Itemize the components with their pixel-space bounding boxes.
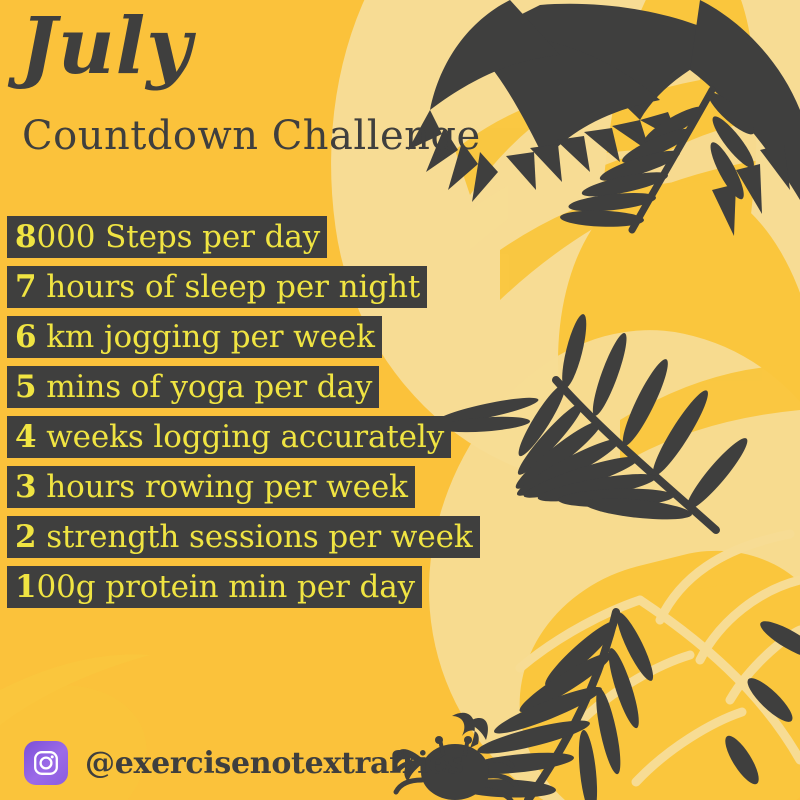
footer: @exercisenotextrafries xyxy=(24,741,464,785)
challenge-list: 8000 Steps per day7 hours of sleep per n… xyxy=(7,216,480,616)
palm-frond-leaflets-upper-icon xyxy=(560,87,759,228)
challenge-item-number: 5 xyxy=(15,369,36,405)
challenge-item-1: 8000 Steps per day xyxy=(7,216,327,258)
challenge-item-text: km jogging per week xyxy=(36,319,374,355)
challenge-item-6: 3 hours rowing per week xyxy=(7,466,415,508)
instagram-handle[interactable]: @exercisenotextrafries xyxy=(85,746,464,781)
challenge-item-number: 1 xyxy=(15,569,36,605)
palm-frond-dark-mid-right-icon xyxy=(435,312,753,523)
challenge-item-number: 8 xyxy=(15,219,36,255)
challenge-item-text: hours rowing per week xyxy=(36,469,407,505)
palm-frond-dark-bottom-right-icon xyxy=(456,609,659,800)
challenge-item-8: 100g protein min per day xyxy=(7,566,422,608)
palm-crown-light-icon xyxy=(470,40,760,250)
challenge-item-4: 5 mins of yoga per day xyxy=(7,366,379,408)
instagram-icon[interactable] xyxy=(24,741,68,785)
list-item: 6 km jogging per week xyxy=(7,316,480,366)
list-item: 5 mins of yoga per day xyxy=(7,366,480,416)
list-item: 4 weeks logging accurately xyxy=(7,416,480,466)
palm-frond-dark-bottom-right-stem-icon xyxy=(528,612,616,800)
list-item: 2 strength sessions per week xyxy=(7,516,480,566)
challenge-item-text: strength sessions per week xyxy=(36,519,472,555)
page-subtitle: Countdown Challenge xyxy=(22,116,481,156)
challenge-item-text: 00g protein min per day xyxy=(36,569,415,605)
palm-trunk-band-lower xyxy=(545,171,800,618)
list-item: 3 hours rowing per week xyxy=(7,466,480,516)
challenge-item-3: 6 km jogging per week xyxy=(7,316,382,358)
challenge-item-2: 7 hours of sleep per night xyxy=(7,266,427,308)
poster-canvas: July Countdown Challenge 8000 Steps per … xyxy=(0,0,800,800)
challenge-item-text: 000 Steps per day xyxy=(36,219,320,255)
challenge-item-text: hours of sleep per night xyxy=(36,269,420,305)
palm-frond-dark-mid-right-stem-icon xyxy=(556,380,716,530)
challenge-item-text: mins of yoga per day xyxy=(36,369,372,405)
palm-frond-accent-right-icon xyxy=(720,615,800,788)
challenge-item-number: 2 xyxy=(15,519,36,555)
challenge-item-number: 6 xyxy=(15,319,36,355)
page-title: July xyxy=(20,8,193,86)
challenge-item-5: 4 weeks logging accurately xyxy=(7,416,451,458)
challenge-item-number: 4 xyxy=(15,419,36,455)
list-item: 7 hours of sleep per night xyxy=(7,266,480,316)
gold-burst-shape xyxy=(491,525,800,800)
challenge-item-number: 7 xyxy=(15,269,36,305)
list-item: 100g protein min per day xyxy=(7,566,480,616)
challenge-item-7: 2 strength sessions per week xyxy=(7,516,480,558)
list-item: 8000 Steps per day xyxy=(7,216,480,266)
challenge-item-number: 3 xyxy=(15,469,36,505)
palm-leaf-outline-light-icon xyxy=(520,534,800,782)
palm-frond-dark-upper-right-icon xyxy=(632,90,712,230)
challenge-item-text: weeks logging accurately xyxy=(36,419,444,455)
palm-trunk-band xyxy=(573,0,777,486)
